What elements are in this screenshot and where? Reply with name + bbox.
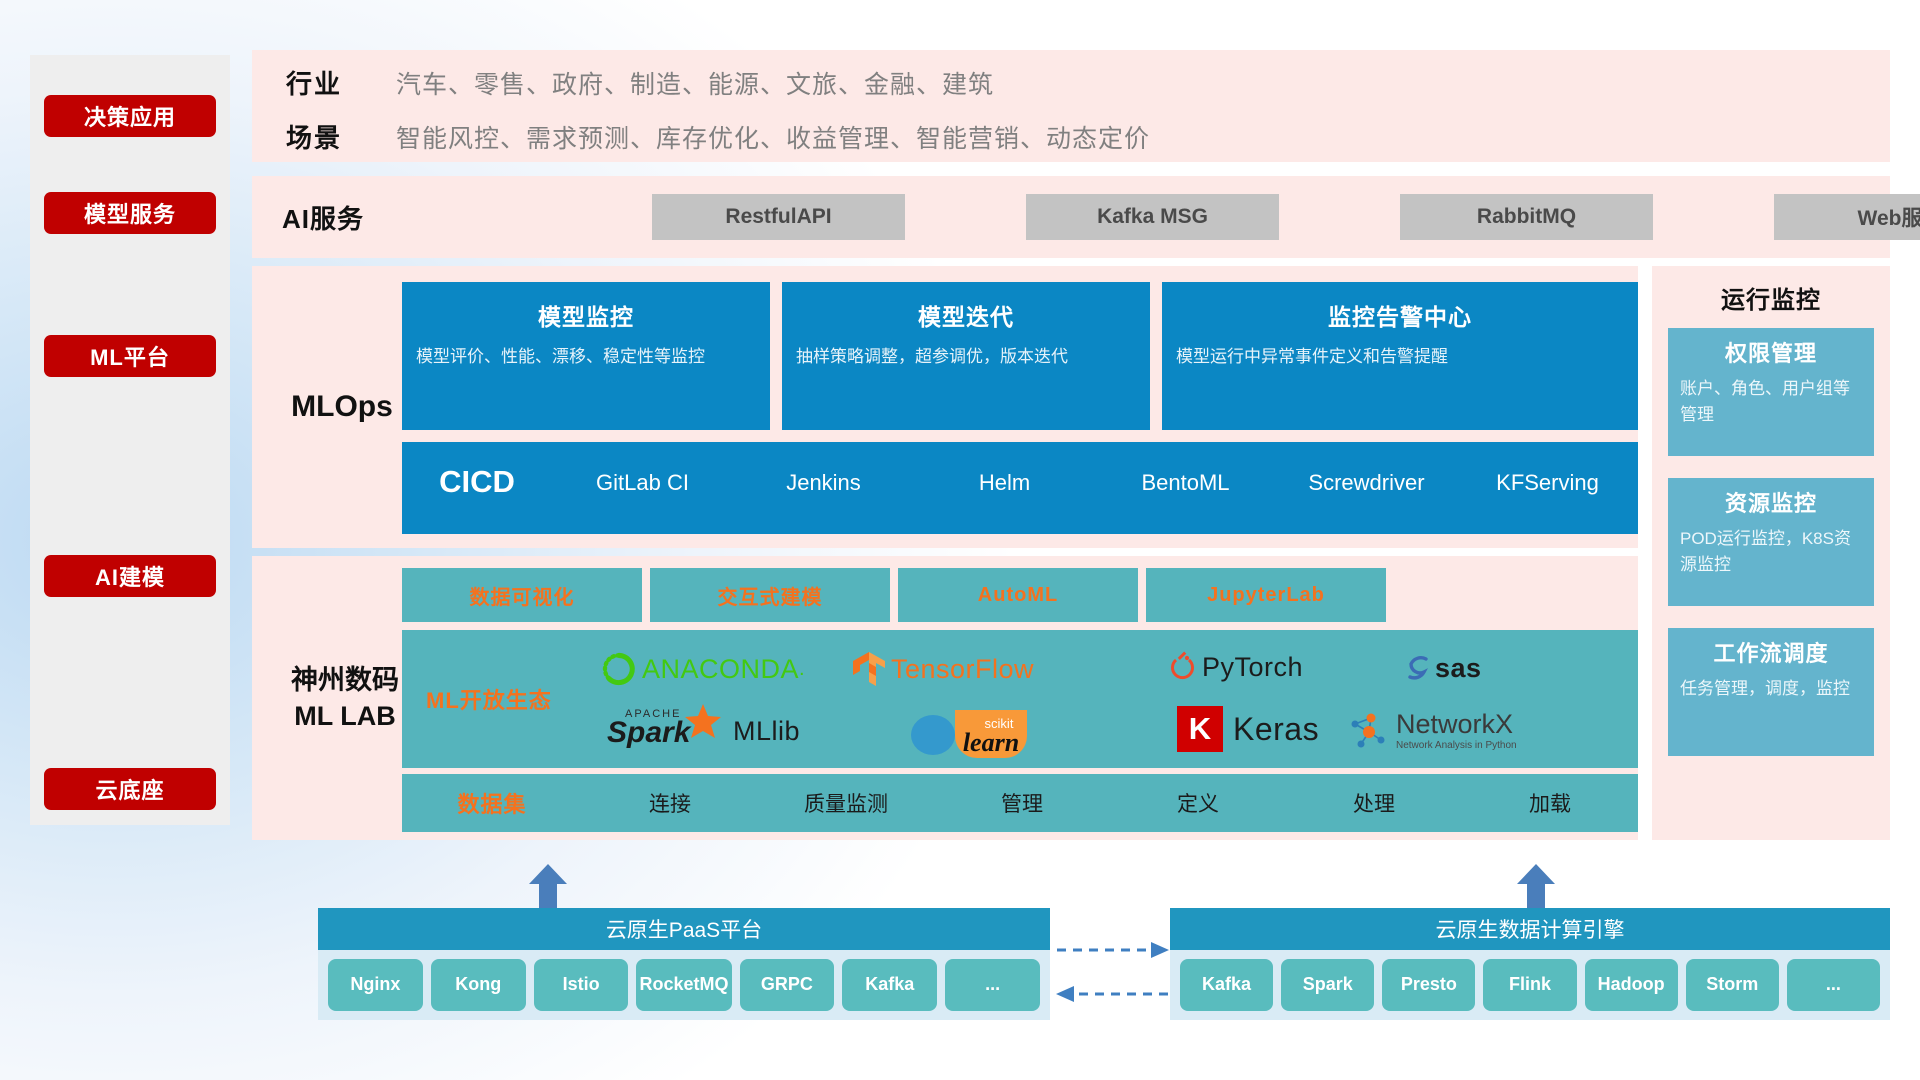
paas-title: 云原生PaaS平台 [318,908,1050,950]
sas-logo: sas [1402,652,1482,684]
monitor-card-title: 工作流调度 [1680,636,1862,668]
monitor-card-desc: 任务管理，调度，监控 [1680,676,1862,702]
runtime-monitor-panel: 运行监控 权限管理 账户、角色、用户组等管理 资源监控 POD运行监控，K8S资… [1652,266,1890,840]
anaconda-mark-icon [602,652,636,686]
ml-lab-label-line2: ML LAB [294,698,396,734]
dataset-item-load[interactable]: 加载 [1462,788,1638,818]
scikit-learn-logo: scikit learn [907,702,1047,760]
anaconda-period: . [799,658,805,681]
paas-chip-rocketmq[interactable]: RocketMQ [636,959,731,1011]
tensorflow-logo: TensorFlow [852,650,1034,688]
ai-service-chip-restfulapi[interactable]: RestfulAPI [652,194,905,240]
paas-chip-nginx[interactable]: Nginx [328,959,423,1011]
engine-chip-flink[interactable]: Flink [1483,959,1576,1011]
dataset-item-process[interactable]: 处理 [1286,788,1462,818]
monitor-card-title: 权限管理 [1680,336,1862,368]
data-engine-chip-tray: Kafka Spark Presto Flink Hadoop Storm ..… [1170,950,1890,1020]
rail-chip-aimodeling[interactable]: AI建模 [44,555,216,597]
anaconda-logo: ANACONDA . [602,652,805,686]
mlops-card-alert-center[interactable]: 监控告警中心 模型运行中异常事件定义和告警提醒 [1162,282,1638,430]
dataset-item-quality[interactable]: 质量监测 [758,788,934,818]
monitor-card-permission[interactable]: 权限管理 账户、角色、用户组等管理 [1668,328,1874,456]
architecture-diagram: 决策应用 模型服务 ML平台 AI建模 云底座 行业 汽车、零售、政府、制造、能… [0,0,1920,1080]
dataset-item-connect[interactable]: 连接 [582,788,758,818]
cicd-item-bentoml[interactable]: BentoML [1095,442,1276,497]
layer-rail: 决策应用 模型服务 ML平台 AI建模 云底座 [30,55,230,825]
dataset-band: 数据集 连接 质量监测 管理 定义 处理 加载 [402,774,1638,832]
ml-ecosystem-label: ML开放生态 [426,630,606,768]
networkx-wordmark: NetworkX [1396,711,1517,738]
data-engine-title: 云原生数据计算引擎 [1170,908,1890,950]
ai-service-chip-webservice[interactable]: Web服务 [1774,194,1920,240]
rail-chip-decision[interactable]: 决策应用 [44,95,216,137]
ai-service-label: AI服务 [282,176,364,258]
industry-row: 行业 汽车、零售、政府、制造、能源、文旅、金融、建筑 [286,64,994,101]
monitor-card-title: 资源监控 [1680,486,1862,518]
mlops-card-desc: 抽样策略调整，超参调优，版本迭代 [796,344,1136,370]
monitor-card-resource[interactable]: 资源监控 POD运行监控，K8S资源监控 [1668,478,1874,606]
industry-value: 汽车、零售、政府、制造、能源、文旅、金融、建筑 [396,65,994,101]
keras-logo: K Keras [1177,706,1319,752]
networkx-logo: NetworkX Network Analysis in Python [1347,710,1517,752]
networkx-graph-icon [1347,710,1391,752]
pytorch-flame-icon [1167,650,1197,684]
tensorflow-mark-icon [852,650,888,688]
engine-chip-hadoop[interactable]: Hadoop [1585,959,1678,1011]
scikit-learn-mark-icon: scikit learn [907,702,1047,760]
cicd-item-gitlabci[interactable]: GitLab CI [552,442,733,497]
ai-service-panel: AI服务 RestfulAPI Kafka MSG RabbitMQ Web服务 [252,176,1890,258]
scenario-value: 智能风控、需求预测、库存优化、收益管理、智能营销、动态定价 [396,119,1150,155]
cicd-item-kfserving[interactable]: KFServing [1457,442,1638,497]
mllab-tab-interactive-modeling[interactable]: 交互式建模 [650,568,890,622]
mlops-card-title: 模型迭代 [796,298,1136,332]
paas-chip-grpc[interactable]: GRPC [740,959,835,1011]
cicd-bar: CICD GitLab CI Jenkins Helm BentoML Scre… [402,442,1638,534]
paas-chip-kafka[interactable]: Kafka [842,959,937,1011]
paas-group: 云原生PaaS平台 Nginx Kong Istio RocketMQ GRPC… [318,908,1050,1020]
scenario-row: 场景 智能风控、需求预测、库存优化、收益管理、智能营销、动态定价 [286,118,1150,155]
cicd-title: CICD [402,442,552,500]
rail-chip-mlplatform[interactable]: ML平台 [44,335,216,377]
dataset-item-manage[interactable]: 管理 [934,788,1110,818]
engine-chip-more[interactable]: ... [1787,959,1880,1011]
mllab-tab-automl[interactable]: AutoML [898,568,1138,622]
mlops-card-model-iteration[interactable]: 模型迭代 抽样策略调整，超参调优，版本迭代 [782,282,1150,430]
industry-panel: 行业 汽车、零售、政府、制造、能源、文旅、金融、建筑 场景 智能风控、需求预测、… [252,50,1890,162]
mllab-tab-jupyterlab[interactable]: JupyterLab [1146,568,1386,622]
engine-up-arrow-icon [1513,862,1559,908]
engine-chip-presto[interactable]: Presto [1382,959,1475,1011]
mlops-card-desc: 模型评价、性能、漂移、稳定性等监控 [416,344,756,370]
mlops-card-title: 模型监控 [416,298,756,332]
pytorch-logo: PyTorch [1167,650,1303,684]
svg-text:learn: learn [963,728,1019,757]
dataset-title: 数据集 [402,787,582,819]
ml-lab-label-line1: 神州数码 [291,662,399,698]
spark-mark-group: APACHE Spark [607,708,727,754]
pytorch-wordmark: PyTorch [1202,652,1303,683]
engine-chip-spark[interactable]: Spark [1281,959,1374,1011]
mlops-panel: MLOps 模型监控 模型评价、性能、漂移、稳定性等监控 模型迭代 抽样策略调整… [252,266,1638,548]
keras-k-letter: K [1189,711,1211,747]
rail-chip-cloudbase[interactable]: 云底座 [44,768,216,810]
mllib-wordmark: MLlib [733,716,800,747]
cicd-item-helm[interactable]: Helm [914,442,1095,497]
keras-mark-icon: K [1177,706,1223,752]
industry-key: 行业 [286,64,396,101]
ai-service-chip-rabbitmq[interactable]: RabbitMQ [1400,194,1653,240]
cicd-item-screwdriver[interactable]: Screwdriver [1276,442,1457,497]
paas-chip-tray: Nginx Kong Istio RocketMQ GRPC Kafka ... [318,950,1050,1020]
ml-lab-panel: 神州数码 ML LAB 数据可视化 交互式建模 AutoML JupyterLa… [252,556,1638,840]
scenario-key: 场景 [286,118,396,155]
monitor-card-workflow[interactable]: 工作流调度 任务管理，调度，监控 [1668,628,1874,756]
networkx-tagline: Network Analysis in Python [1396,740,1517,751]
anaconda-wordmark: ANACONDA [642,654,799,685]
tensorflow-wordmark: TensorFlow [891,654,1034,685]
rail-chip-modelsvc[interactable]: 模型服务 [44,192,216,234]
dataset-item-define[interactable]: 定义 [1110,788,1286,818]
monitor-card-desc: 账户、角色、用户组等管理 [1680,376,1862,427]
ai-service-chip-kafkamsg[interactable]: Kafka MSG [1026,194,1279,240]
paas-up-arrow-icon [525,862,571,908]
runtime-monitor-title: 运行监控 [1652,280,1890,315]
bidirectional-sync-arrows-icon [1055,930,1170,1010]
engine-chip-storm[interactable]: Storm [1686,959,1779,1011]
engine-chip-kafka[interactable]: Kafka [1180,959,1273,1011]
monitor-card-desc: POD运行监控，K8S资源监控 [1680,526,1862,577]
spark-mllib-logo: APACHE Spark MLlib [607,708,800,754]
data-engine-group: 云原生数据计算引擎 Kafka Spark Presto Flink Hadoo… [1170,908,1890,1020]
paas-chip-kong[interactable]: Kong [431,959,526,1011]
mlops-card-desc: 模型运行中异常事件定义和告警提醒 [1176,344,1624,370]
sas-wordmark: sas [1435,653,1482,684]
paas-chip-istio[interactable]: Istio [534,959,629,1011]
spark-wordmark: Spark [607,716,690,750]
cicd-item-jenkins[interactable]: Jenkins [733,442,914,497]
mllab-tab-data-visualization[interactable]: 数据可视化 [402,568,642,622]
paas-chip-more[interactable]: ... [945,959,1040,1011]
keras-wordmark: Keras [1233,711,1319,748]
spark-star-icon [683,702,723,742]
sas-mark-icon [1402,652,1434,684]
ml-ecosystem-band: ML开放生态 ANACONDA . TensorFlow [402,630,1638,768]
mlops-card-model-monitor[interactable]: 模型监控 模型评价、性能、漂移、稳定性等监控 [402,282,770,430]
networkx-text-group: NetworkX Network Analysis in Python [1396,711,1517,751]
mlops-card-title: 监控告警中心 [1176,298,1624,332]
